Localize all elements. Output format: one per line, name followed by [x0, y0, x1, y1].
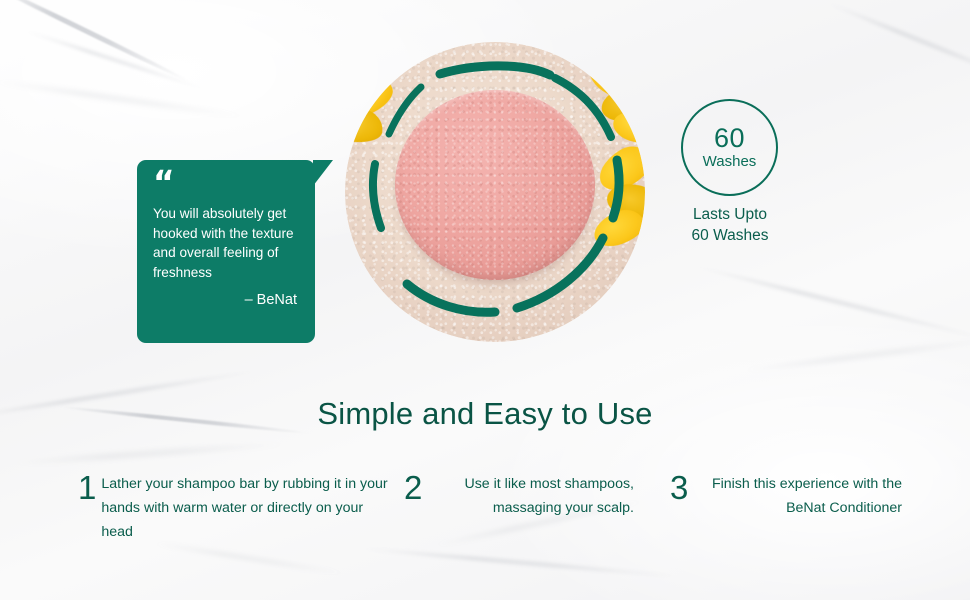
washes-count: 60 [714, 125, 745, 151]
washes-caption-line-2: 60 Washes [650, 225, 810, 246]
page-title: Simple and Easy to Use [0, 395, 970, 433]
quote-attribution: – BeNat [153, 292, 301, 308]
product-photo [345, 42, 645, 342]
step-item: 3 Finish this experience with the BeNat … [670, 472, 902, 520]
quote-card: “ You will absolutely get hooked with th… [137, 160, 315, 343]
step-number: 3 [670, 472, 688, 503]
step-item: 1 Lather your shampoo bar by rubbing it … [78, 472, 388, 544]
washes-badge: 60 Washes [681, 99, 778, 196]
step-item: 2 Use it like most shampoos, massaging y… [404, 472, 634, 520]
step-text: Lather your shampoo bar by rubbing it in… [101, 472, 388, 544]
step-number: 2 [404, 472, 422, 503]
infographic-canvas: “ You will absolutely get hooked with th… [0, 0, 970, 600]
quote-text: You will absolutely get hooked with the … [153, 204, 301, 282]
washes-unit: Washes [703, 153, 757, 171]
step-number: 1 [78, 472, 96, 503]
quote-bubble-tail [313, 160, 333, 186]
washes-caption: Lasts Upto 60 Washes [650, 204, 810, 246]
quote-mark-icon: “ [153, 174, 301, 196]
shampoo-bar [395, 90, 595, 280]
step-text: Use it like most shampoos, massaging you… [427, 472, 634, 520]
washes-caption-line-1: Lasts Upto [650, 204, 810, 225]
step-text: Finish this experience with the BeNat Co… [693, 472, 902, 520]
